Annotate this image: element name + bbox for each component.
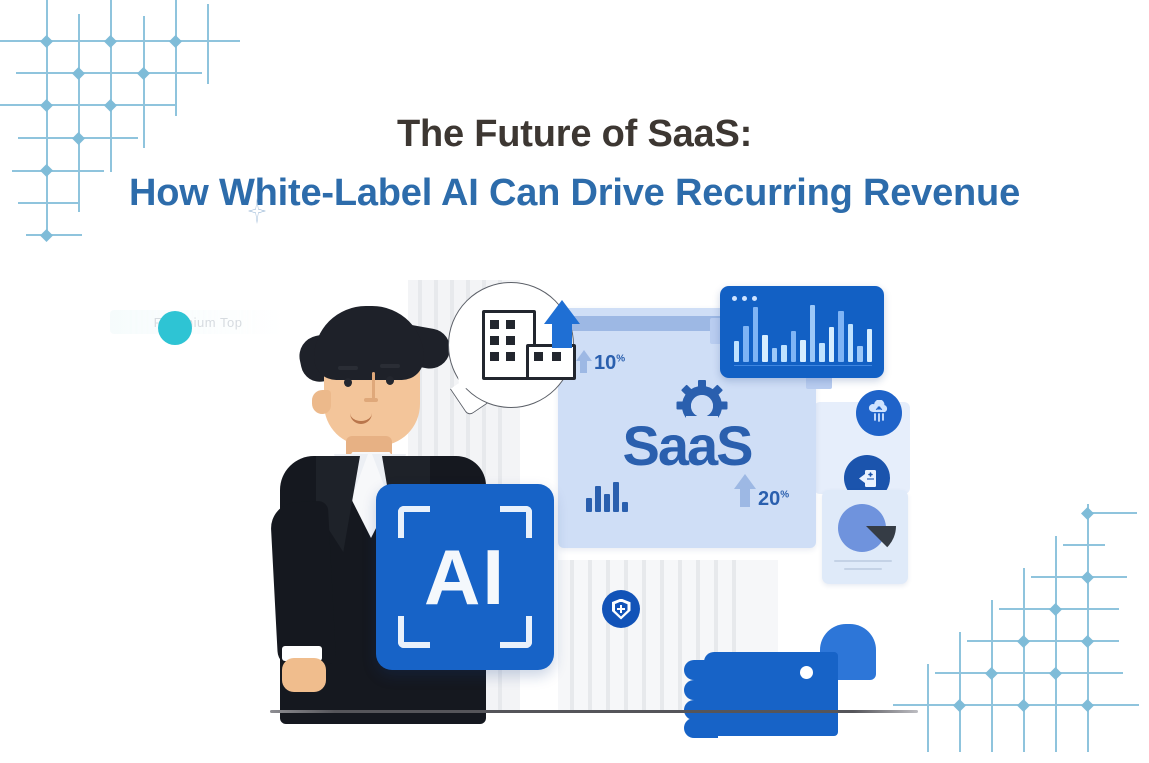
decor-line (16, 72, 202, 74)
decor-node (953, 699, 966, 712)
stat-arrow-stem (740, 489, 750, 507)
window (534, 352, 543, 361)
decor-line (967, 640, 1119, 642)
decor-line (175, 0, 177, 116)
watermark-text: Freemium Top (110, 310, 286, 334)
decor-node (40, 229, 53, 242)
hero-illustration: 10% SaaS 20% (258, 272, 930, 734)
decor-line (1063, 544, 1105, 546)
heading-block: The Future of SaaS: How White-Label AI C… (0, 108, 1149, 220)
pie-card-line (834, 560, 892, 562)
eye (344, 378, 352, 387)
stat-number: 10 (594, 352, 616, 374)
stat-arrow-up-icon (734, 474, 756, 489)
eye (386, 376, 394, 385)
decor-grid-bottom-right (895, 480, 1149, 763)
window (506, 352, 515, 361)
decor-line (1055, 536, 1057, 752)
decor-node (1081, 699, 1094, 712)
decor-node (1081, 571, 1094, 584)
eyebrow (380, 364, 400, 368)
decor-line (999, 608, 1119, 610)
decor-node (72, 67, 85, 80)
decor-line (991, 600, 993, 752)
shield-plus-icon (602, 590, 640, 628)
nose (372, 372, 375, 400)
thumbs-up-icon (678, 624, 838, 736)
decor-line (1031, 576, 1127, 578)
decor-line (1091, 512, 1137, 514)
stat-value-20: 20% (758, 488, 789, 511)
stat-unit: % (780, 489, 789, 500)
window (506, 336, 515, 345)
page-title-line-1: The Future of SaaS: (0, 108, 1149, 160)
growth-arrow-stem (552, 322, 572, 348)
pie-card-line (844, 568, 882, 570)
window (490, 352, 499, 361)
stat-arrow-stem (580, 361, 587, 373)
hand-left (282, 658, 326, 692)
arm (270, 501, 337, 668)
decor-line (1087, 504, 1089, 752)
decor-node (1049, 667, 1062, 680)
decor-line (0, 40, 240, 42)
bar-chart-axis (734, 365, 872, 366)
window (506, 320, 515, 329)
page-title-line-2: How White-Label AI Can Drive Recurring R… (0, 160, 1149, 220)
stat-number: 20 (758, 488, 780, 510)
stat-arrow-up-icon (576, 350, 592, 361)
ear (312, 390, 331, 414)
window (490, 320, 499, 329)
analytics-bar-chart-card (720, 286, 884, 378)
ai-card[interactable]: AI (376, 484, 554, 670)
window (552, 352, 561, 361)
decor-node (104, 35, 117, 48)
decor-node (985, 667, 998, 680)
decor-line (935, 672, 1123, 674)
growth-arrow-icon (544, 300, 580, 324)
decor-node (1017, 699, 1030, 712)
stat-value-10: 10% (594, 352, 625, 375)
building-annex-icon (526, 344, 576, 380)
nose-base (364, 398, 378, 402)
cloud-network-icon (856, 390, 902, 436)
decor-line (0, 104, 176, 106)
saas-wordmark: SaaS (558, 418, 816, 474)
stat-unit: % (616, 353, 625, 364)
decor-node (1049, 603, 1062, 616)
eyebrow (338, 366, 358, 370)
decor-line (959, 632, 961, 752)
decor-node (1017, 635, 1030, 648)
page-canvas: The Future of SaaS: How White-Label AI C… (0, 0, 1149, 763)
decor-line (207, 4, 209, 84)
window (490, 336, 499, 345)
decor-node (137, 67, 150, 80)
decor-node (1081, 635, 1094, 648)
pie-chart-card (822, 490, 908, 584)
decor-node (40, 35, 53, 48)
ground-line (270, 710, 918, 713)
ai-card-label: AI (376, 484, 554, 670)
decor-line (26, 234, 82, 236)
bar-chart-bars (734, 300, 872, 362)
mini-bar-chart-left (586, 480, 628, 512)
decor-line (1023, 568, 1025, 752)
decor-node (169, 35, 182, 48)
hair (314, 306, 424, 380)
watermark-dot-icon (158, 311, 192, 345)
decor-node (1081, 507, 1094, 520)
